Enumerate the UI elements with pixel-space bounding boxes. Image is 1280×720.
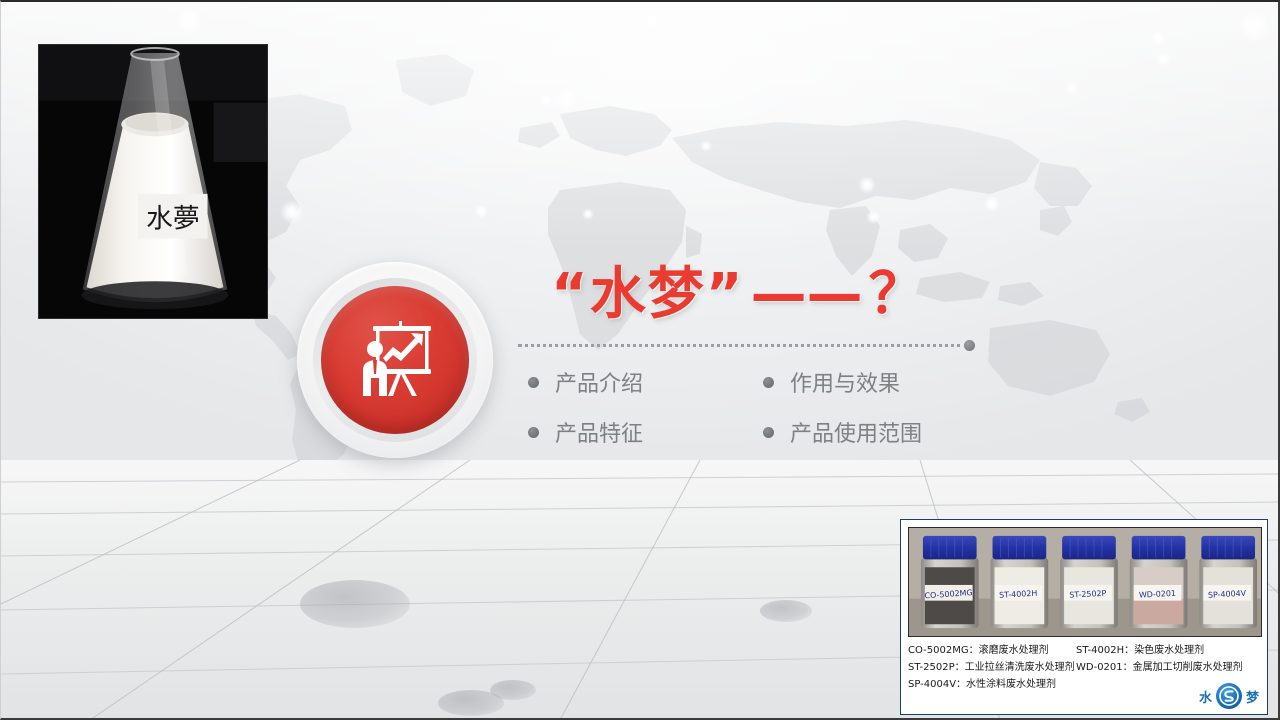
logo-swirl-icon — [1216, 683, 1242, 709]
title-dash: —— — [751, 262, 863, 327]
floor-reflection-blob — [438, 690, 504, 716]
product-flask-photo: 水夢 — [38, 44, 268, 319]
presentation-chart-icon — [349, 314, 441, 406]
bullet-dot-icon — [763, 377, 774, 388]
bullet-item[interactable]: 产品特征 — [528, 416, 763, 448]
caption-row: CO-5002MG：滚磨废水处理剂 ST-4002H：染色废水处理剂 — [908, 642, 1264, 659]
product-samples-panel: CO-5002MG ST-4002H ST-2502P — [900, 519, 1268, 715]
logo-left-char: 水 — [1199, 687, 1212, 706]
bullet-item[interactable]: 作用与效果 — [763, 366, 988, 398]
caption-cell: WD-0201：金属加工切削废水处理剂 — [1076, 659, 1261, 676]
page-title: “水梦”——？ — [551, 266, 927, 325]
caption-row: ST-2502P：工业拉丝清洗废水处理剂 WD-0201：金属加工切削废水处理剂 — [908, 659, 1264, 676]
caption-cell: ST-4002H：染色废水处理剂 — [1076, 642, 1261, 659]
logo-right-char: 梦 — [1246, 687, 1259, 706]
bullet-item[interactable]: 产品使用范围 — [763, 416, 988, 448]
badge-core — [321, 286, 469, 434]
floor-reflection-blob — [760, 600, 812, 622]
section-icon-badge — [297, 262, 493, 458]
dotted-divider — [518, 344, 968, 347]
floor-reflection-blob — [300, 580, 410, 628]
caption-cell: ST-2502P：工业拉丝清洗废水处理剂 — [908, 659, 1076, 676]
bullet-item[interactable]: 产品介绍 — [528, 366, 763, 398]
title-question-mark: ？ — [869, 262, 927, 327]
presentation-slide: 水夢 — [0, 0, 1280, 720]
caption-cell: SP-4004V：水性涂料废水处理剂 — [908, 676, 1076, 693]
company-logo: 水 梦 — [1199, 683, 1259, 709]
svg-text:水夢: 水夢 — [146, 204, 199, 235]
bullet-label: 产品使用范围 — [790, 416, 922, 448]
bullet-label: 作用与效果 — [790, 366, 900, 398]
bullet-dot-icon — [528, 427, 539, 438]
bullet-label: 产品特征 — [555, 416, 643, 448]
bullet-label: 产品介绍 — [555, 366, 643, 398]
divider-end-dot — [964, 340, 975, 351]
caption-cell: CO-5002MG：滚磨废水处理剂 — [908, 642, 1076, 659]
bullet-dot-icon — [763, 427, 774, 438]
bullet-dot-icon — [528, 377, 539, 388]
svg-text:WD-0201: WD-0201 — [1139, 589, 1176, 600]
title-main-text: “水梦” — [551, 262, 745, 327]
agenda-bullet-list: 产品介绍 作用与效果 产品特征 产品使用范围 — [528, 366, 988, 448]
sample-bottles-photo: CO-5002MG ST-4002H ST-2502P — [908, 527, 1262, 637]
svg-text:ST-2502P: ST-2502P — [1069, 589, 1107, 600]
